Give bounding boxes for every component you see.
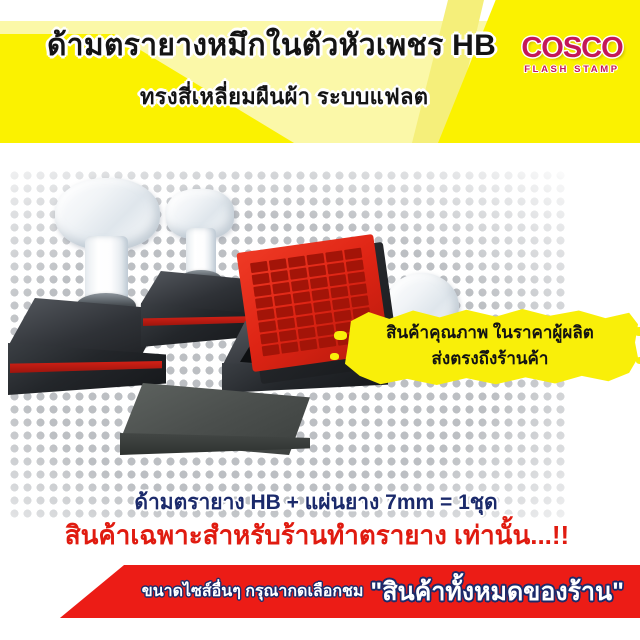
shop-link-banner-content[interactable]: ขนาดไซส์อื่นๆ กรุณากดเลือกชม "สินค้าทั้ง…	[57, 565, 640, 618]
cosco-logo: COSCO FLASH STAMP	[516, 33, 628, 85]
product-poster: ด้ามตรายางหมึกในตัวหัวเพชร HB ทรงสี่เหลี…	[0, 0, 640, 640]
callout-line-red: สินค้าเฉพาะสำหรับร้านทำตรายาง เท่านั้น..…	[0, 515, 640, 556]
promo-line-2: ส่งตรงถึงร้านค้า	[342, 347, 638, 371]
promo-line-1: สินค้าคุณภาพ ในราคาผู้ผลิต	[342, 321, 638, 345]
header-banner: ด้ามตรายางหมึกในตัวหัวเพชร HB ทรงสี่เหลี…	[0, 0, 640, 143]
page-subtitle: ทรงสี่เหลี่ยมผืนผ้า ระบบแฟลต	[140, 79, 428, 114]
banner-instruction-text: ขนาดไซส์อื่นๆ กรุณากดเลือกชม	[142, 579, 364, 604]
promo-brush-speck	[330, 353, 339, 360]
cosco-logo-tagline: FLASH STAMP	[516, 63, 628, 76]
cosco-logo-wordmark: COSCO	[516, 33, 628, 63]
promo-brush-stroke: สินค้าคุณภาพ ในราคาผู้ผลิต ส่งตรงถึงร้าน…	[342, 309, 638, 385]
bottom-white-strip	[0, 618, 640, 640]
banner-shop-all-label[interactable]: "สินค้าทั้งหมดของร้าน"	[370, 572, 624, 612]
page-title: ด้ามตรายางหมึกในตัวหัวเพชร HB	[47, 22, 496, 69]
